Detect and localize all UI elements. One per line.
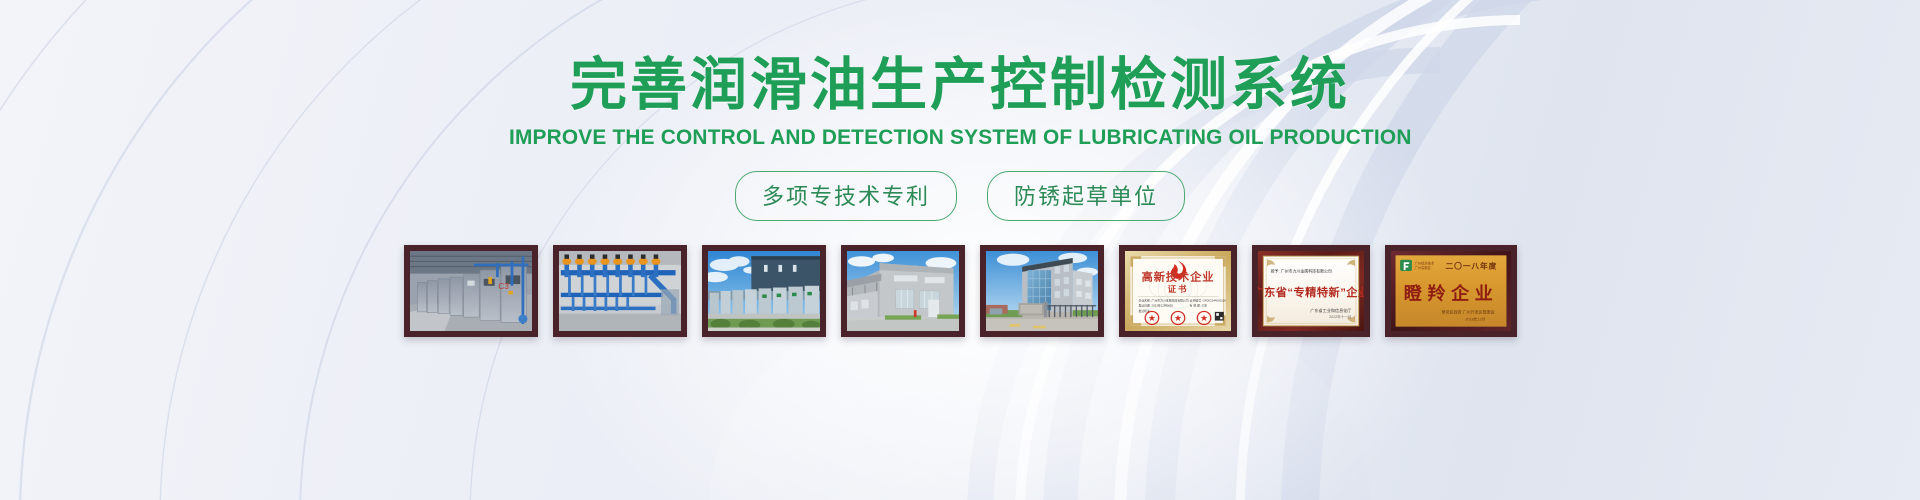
- page-subtitle: IMPROVE THE CONTROL AND DETECTION SYSTEM…: [509, 125, 1412, 150]
- blue-piping-photo: [559, 251, 681, 331]
- svg-text:证书: 证书: [1167, 284, 1188, 294]
- svg-text:授予: 广州市力川金属科技有限公司: 授予: 广州市力川金属科技有限公司: [1270, 269, 1331, 274]
- storage-tanks-photo: [708, 251, 820, 331]
- svg-text:高新技术企业: 高新技术企业: [1141, 270, 1214, 284]
- production-line-photo: C3: [410, 251, 532, 331]
- hightech-certificate: 高新技术企业 证书 企业名称: 广州市力川金属科技有限公司 证书编号: GR20…: [1125, 251, 1231, 331]
- gazelle-enterprise-plaque: 广州经济技术 广州高新区 二〇一八年度 瞪羚企业 萝岗区政府 广州开发区管委会 …: [1391, 251, 1511, 331]
- svg-text:企业名称: 广州市力川金属科技有限公司: 企业名称: 广州市力川金属科技有限公司: [1138, 298, 1188, 302]
- gallery-item-specialized-new-plaque[interactable]: 授予: 广州市力川金属科技有限公司 广东省“专精特新”企业 广东省工业和信息化厅…: [1252, 245, 1370, 337]
- svg-text:发证日期: 2023年12月06日: 发证日期: 2023年12月06日: [1138, 304, 1172, 308]
- gallery-strip: C3: [404, 245, 1517, 337]
- gallery-item-storage-tanks[interactable]: [702, 245, 826, 337]
- svg-text:2018年12月: 2018年12月: [1465, 316, 1486, 321]
- svg-text:广州经济技术: 广州经济技术: [1414, 260, 1434, 265]
- banner-content: 完善润滑油生产控制检测系统 IMPROVE THE CONTROL AND DE…: [0, 0, 1920, 500]
- svg-text:广州高新区: 广州高新区: [1414, 265, 1431, 270]
- badge-pill-standard[interactable]: 防锈起草单位: [987, 171, 1185, 221]
- gallery-item-office-building[interactable]: [980, 245, 1104, 337]
- page-title: 完善润滑油生产控制检测系统: [570, 56, 1350, 116]
- gallery-item-hightech-certificate[interactable]: 高新技术企业 证书 企业名称: 广州市力川金属科技有限公司 证书编号: GR20…: [1119, 245, 1237, 337]
- svg-text:瞪羚企业: 瞪羚企业: [1403, 283, 1498, 304]
- factory-building-photo: [847, 251, 959, 331]
- svg-text:广东省“专精特新”企业: 广东省“专精特新”企业: [1258, 285, 1364, 299]
- office-building-photo: [986, 251, 1098, 331]
- gallery-item-gazelle-plaque[interactable]: 广州经济技术 广州高新区 二〇一八年度 瞪羚企业 萝岗区政府 广州开发区管委会 …: [1385, 245, 1517, 337]
- gallery-item-production-line[interactable]: C3: [404, 245, 538, 337]
- badge-pill-patents[interactable]: 多项专技术专利: [735, 171, 957, 221]
- specialized-new-plaque: 授予: 广州市力川金属科技有限公司 广东省“专精特新”企业 广东省工业和信息化厅…: [1258, 251, 1364, 331]
- gallery-item-factory-building[interactable]: [841, 245, 965, 337]
- svg-text:2022年十一月: 2022年十一月: [1329, 314, 1351, 319]
- svg-text:萝岗区政府 广州开发区管委会: 萝岗区政府 广州开发区管委会: [1441, 310, 1494, 315]
- svg-text:广东省工业和信息化厅: 广东省工业和信息化厅: [1310, 307, 1351, 313]
- badge-pill-group: 多项专技术专利 防锈起草单位: [735, 171, 1185, 221]
- svg-text:有 效 期: 三年: 有 效 期: 三年: [1189, 304, 1207, 308]
- gallery-item-blue-piping[interactable]: [553, 245, 687, 337]
- svg-text:二〇一八年度: 二〇一八年度: [1445, 260, 1497, 270]
- svg-text:证书编号: GR202344000116: 证书编号: GR202344000116: [1189, 298, 1226, 302]
- svg-text:C3: C3: [498, 282, 509, 291]
